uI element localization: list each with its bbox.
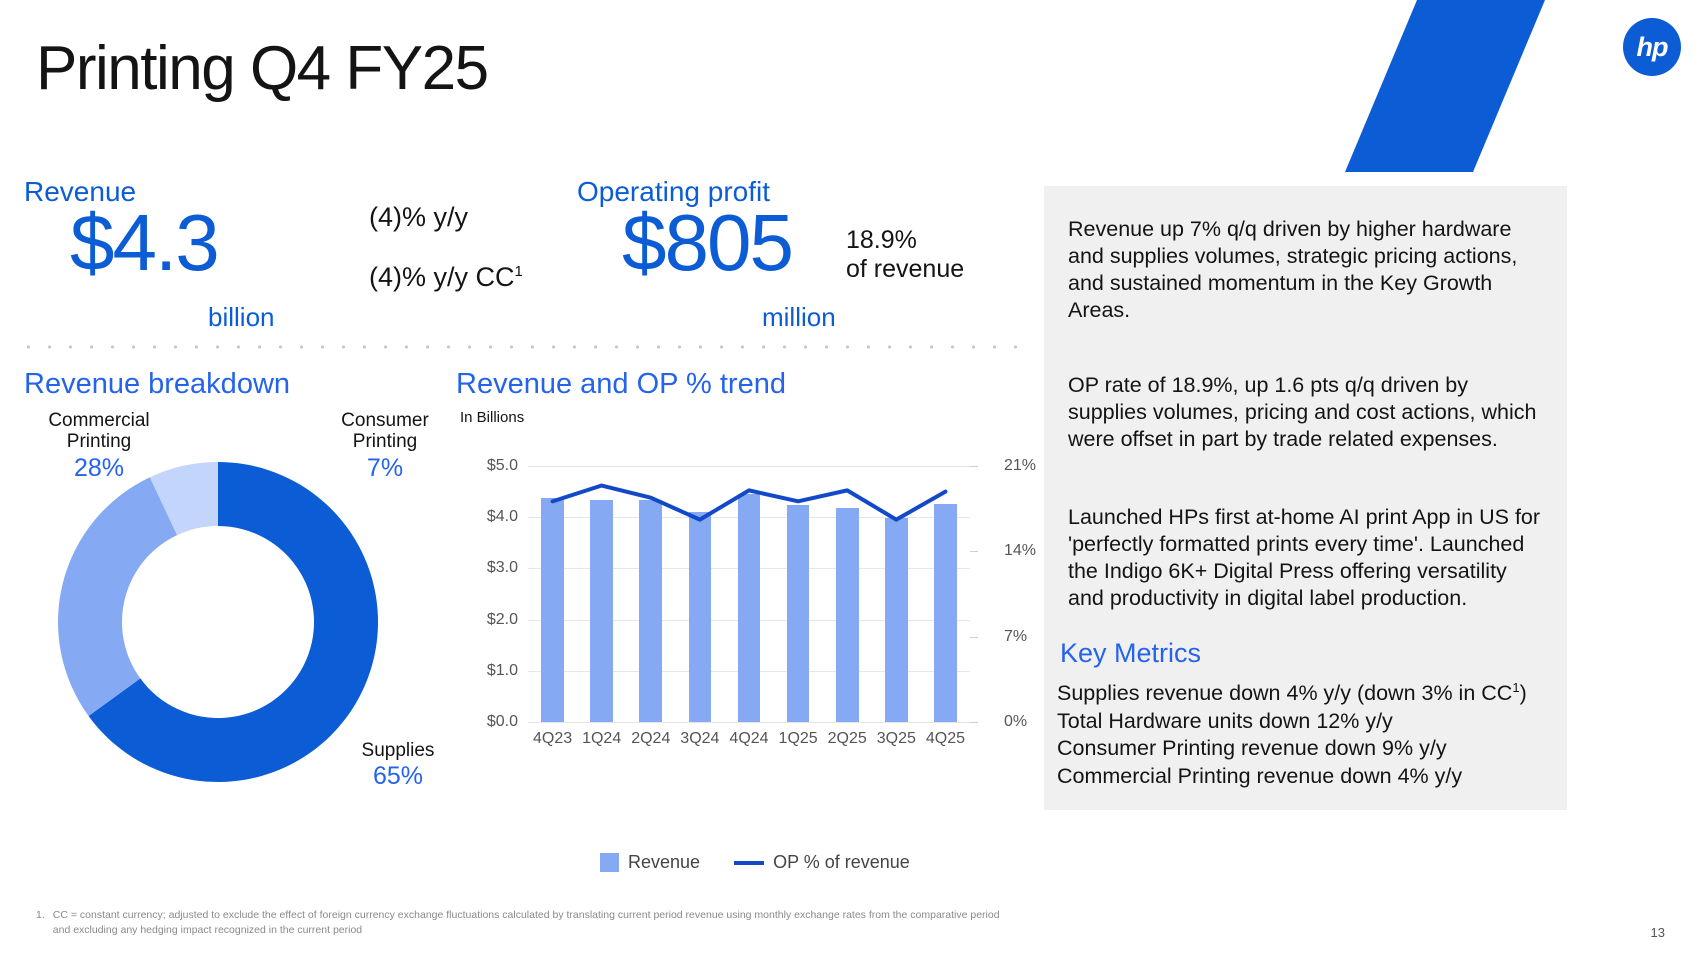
trend-chart-subtitle: In Billions (460, 409, 524, 426)
operating-profit-rate-caption: of revenue (846, 255, 964, 284)
legend-swatch-revenue (600, 853, 619, 872)
revenue-unit: billion (208, 302, 275, 333)
page-title: Printing Q4 FY25 (36, 38, 488, 100)
commentary-paragraph-3: Launched HPs first at-home AI print App … (1068, 504, 1543, 612)
footnote-number: 1. (36, 908, 45, 938)
y2-axis-tick-label: 14% (1004, 542, 1036, 560)
x-axis-tick-label: 1Q24 (582, 730, 621, 748)
key-metric-footnote-ref: 1 (1512, 680, 1519, 695)
key-metrics-title: Key Metrics (1060, 638, 1201, 669)
revenue-yoy: (4)% y/y (369, 202, 468, 233)
key-metric-item: Consumer Printing revenue down 9% y/y (1057, 735, 1562, 763)
x-axis-tick-label: 3Q25 (877, 730, 916, 748)
y-axis-tick-label: $2.0 (487, 611, 518, 629)
legend-item-op-percent: OP % of revenue (734, 852, 910, 873)
footnote: 1. CC = constant currency; adjusted to e… (36, 908, 1001, 938)
y-axis-tick-label: $1.0 (487, 662, 518, 680)
legend-item-revenue: Revenue (600, 852, 700, 873)
y2-axis-tick (970, 466, 978, 467)
x-axis-tick-label: 2Q25 (828, 730, 867, 748)
y2-axis-tick-label: 21% (1004, 457, 1036, 475)
y-axis-tick-label: $4.0 (487, 508, 518, 526)
op-percent-line-series (528, 466, 970, 722)
key-metric-text: Commercial Printing revenue down 4% y/y (1057, 764, 1462, 788)
y2-axis-tick-label: 7% (1004, 628, 1027, 646)
donut-label-commercial-line1: Commercial (24, 410, 174, 431)
y-axis-tick-label: $3.0 (487, 559, 518, 577)
y2-axis-tick (970, 551, 978, 552)
operating-profit-value: $805 (622, 206, 792, 280)
donut-label-consumer-line1: Consumer (310, 410, 460, 431)
key-metric-text: Supplies revenue down 4% y/y (down 3% in… (1057, 681, 1512, 705)
x-axis-tick-label: 3Q24 (680, 730, 719, 748)
revenue-value: $4.3 (70, 206, 218, 280)
hp-brand-parallelogram (1345, 0, 1545, 172)
slide-root: hp Printing Q4 FY25 Revenue $4.3 billion… (0, 0, 1707, 960)
legend-line-op-percent (734, 861, 764, 865)
operating-profit-rate: 18.9% of revenue (846, 226, 964, 284)
divider-main (18, 345, 1018, 349)
op-percent-line-path (553, 486, 946, 520)
x-axis-tick-label: 4Q25 (926, 730, 965, 748)
chart-legend: Revenue OP % of revenue (600, 852, 910, 873)
revenue-op-trend-chart: $0.0$1.0$2.0$3.0$4.0$5.00%7%14%21%4Q231Q… (452, 448, 1032, 758)
revenue-breakdown-donut-chart (48, 452, 388, 792)
revenue-yoy-cc: (4)% y/y CC1 (369, 262, 523, 293)
revenue-yoy-cc-footnote-ref: 1 (515, 263, 523, 280)
key-metric-item: Supplies revenue down 4% y/y (down 3% in… (1057, 680, 1562, 708)
key-metric-item: Total Hardware units down 12% y/y (1057, 708, 1562, 736)
donut-segment-commercial-printing (58, 477, 177, 716)
key-metric-text: Total Hardware units down 12% y/y (1057, 709, 1393, 733)
y-axis-tick-label: $5.0 (487, 457, 518, 475)
kpi-band: Revenue $4.3 billion (4)% y/y (4)% y/y C… (24, 170, 1024, 340)
donut-svg (48, 452, 388, 792)
trend-chart-title: Revenue and OP % trend (456, 368, 786, 401)
page-number: 13 (1651, 925, 1665, 940)
donut-label-consumer-line2: Printing (310, 431, 460, 452)
legend-label-op-percent: OP % of revenue (773, 852, 910, 873)
revenue-breakdown-title: Revenue breakdown (24, 368, 290, 401)
y2-axis-tick (970, 637, 978, 638)
key-metric-item: Commercial Printing revenue down 4% y/y (1057, 763, 1562, 791)
chart-plot-area: $0.0$1.0$2.0$3.0$4.0$5.00%7%14%21%4Q231Q… (528, 466, 970, 722)
x-axis-tick-label: 4Q24 (729, 730, 768, 748)
y-axis-tick-label: $0.0 (487, 713, 518, 731)
operating-profit-unit: million (762, 302, 836, 333)
legend-label-revenue: Revenue (628, 852, 700, 873)
key-metrics-list: Supplies revenue down 4% y/y (down 3% in… (1057, 680, 1562, 790)
x-axis-tick-label: 4Q23 (533, 730, 572, 748)
operating-profit-rate-value: 18.9% (846, 226, 964, 255)
commentary-paragraphs: Revenue up 7% q/q driven by higher hardw… (1044, 186, 1567, 612)
chart-gridline (528, 722, 970, 723)
footnote-text: CC = constant currency; adjusted to excl… (53, 908, 1001, 938)
commentary-paragraph-2: OP rate of 18.9%, up 1.6 pts q/q driven … (1068, 372, 1543, 453)
hp-logo-icon: hp (1623, 18, 1681, 76)
key-metric-text-suffix: ) (1520, 681, 1527, 705)
x-axis-tick-label: 2Q24 (631, 730, 670, 748)
key-metric-text: Consumer Printing revenue down 9% y/y (1057, 736, 1447, 760)
y2-axis-tick-label: 0% (1004, 713, 1027, 731)
commentary-paragraph-1: Revenue up 7% q/q driven by higher hardw… (1068, 216, 1543, 324)
revenue-yoy-cc-text: (4)% y/y CC (369, 262, 515, 292)
donut-label-commercial-line2: Printing (24, 431, 174, 452)
x-axis-tick-label: 1Q25 (779, 730, 818, 748)
y2-axis-tick (970, 722, 978, 723)
